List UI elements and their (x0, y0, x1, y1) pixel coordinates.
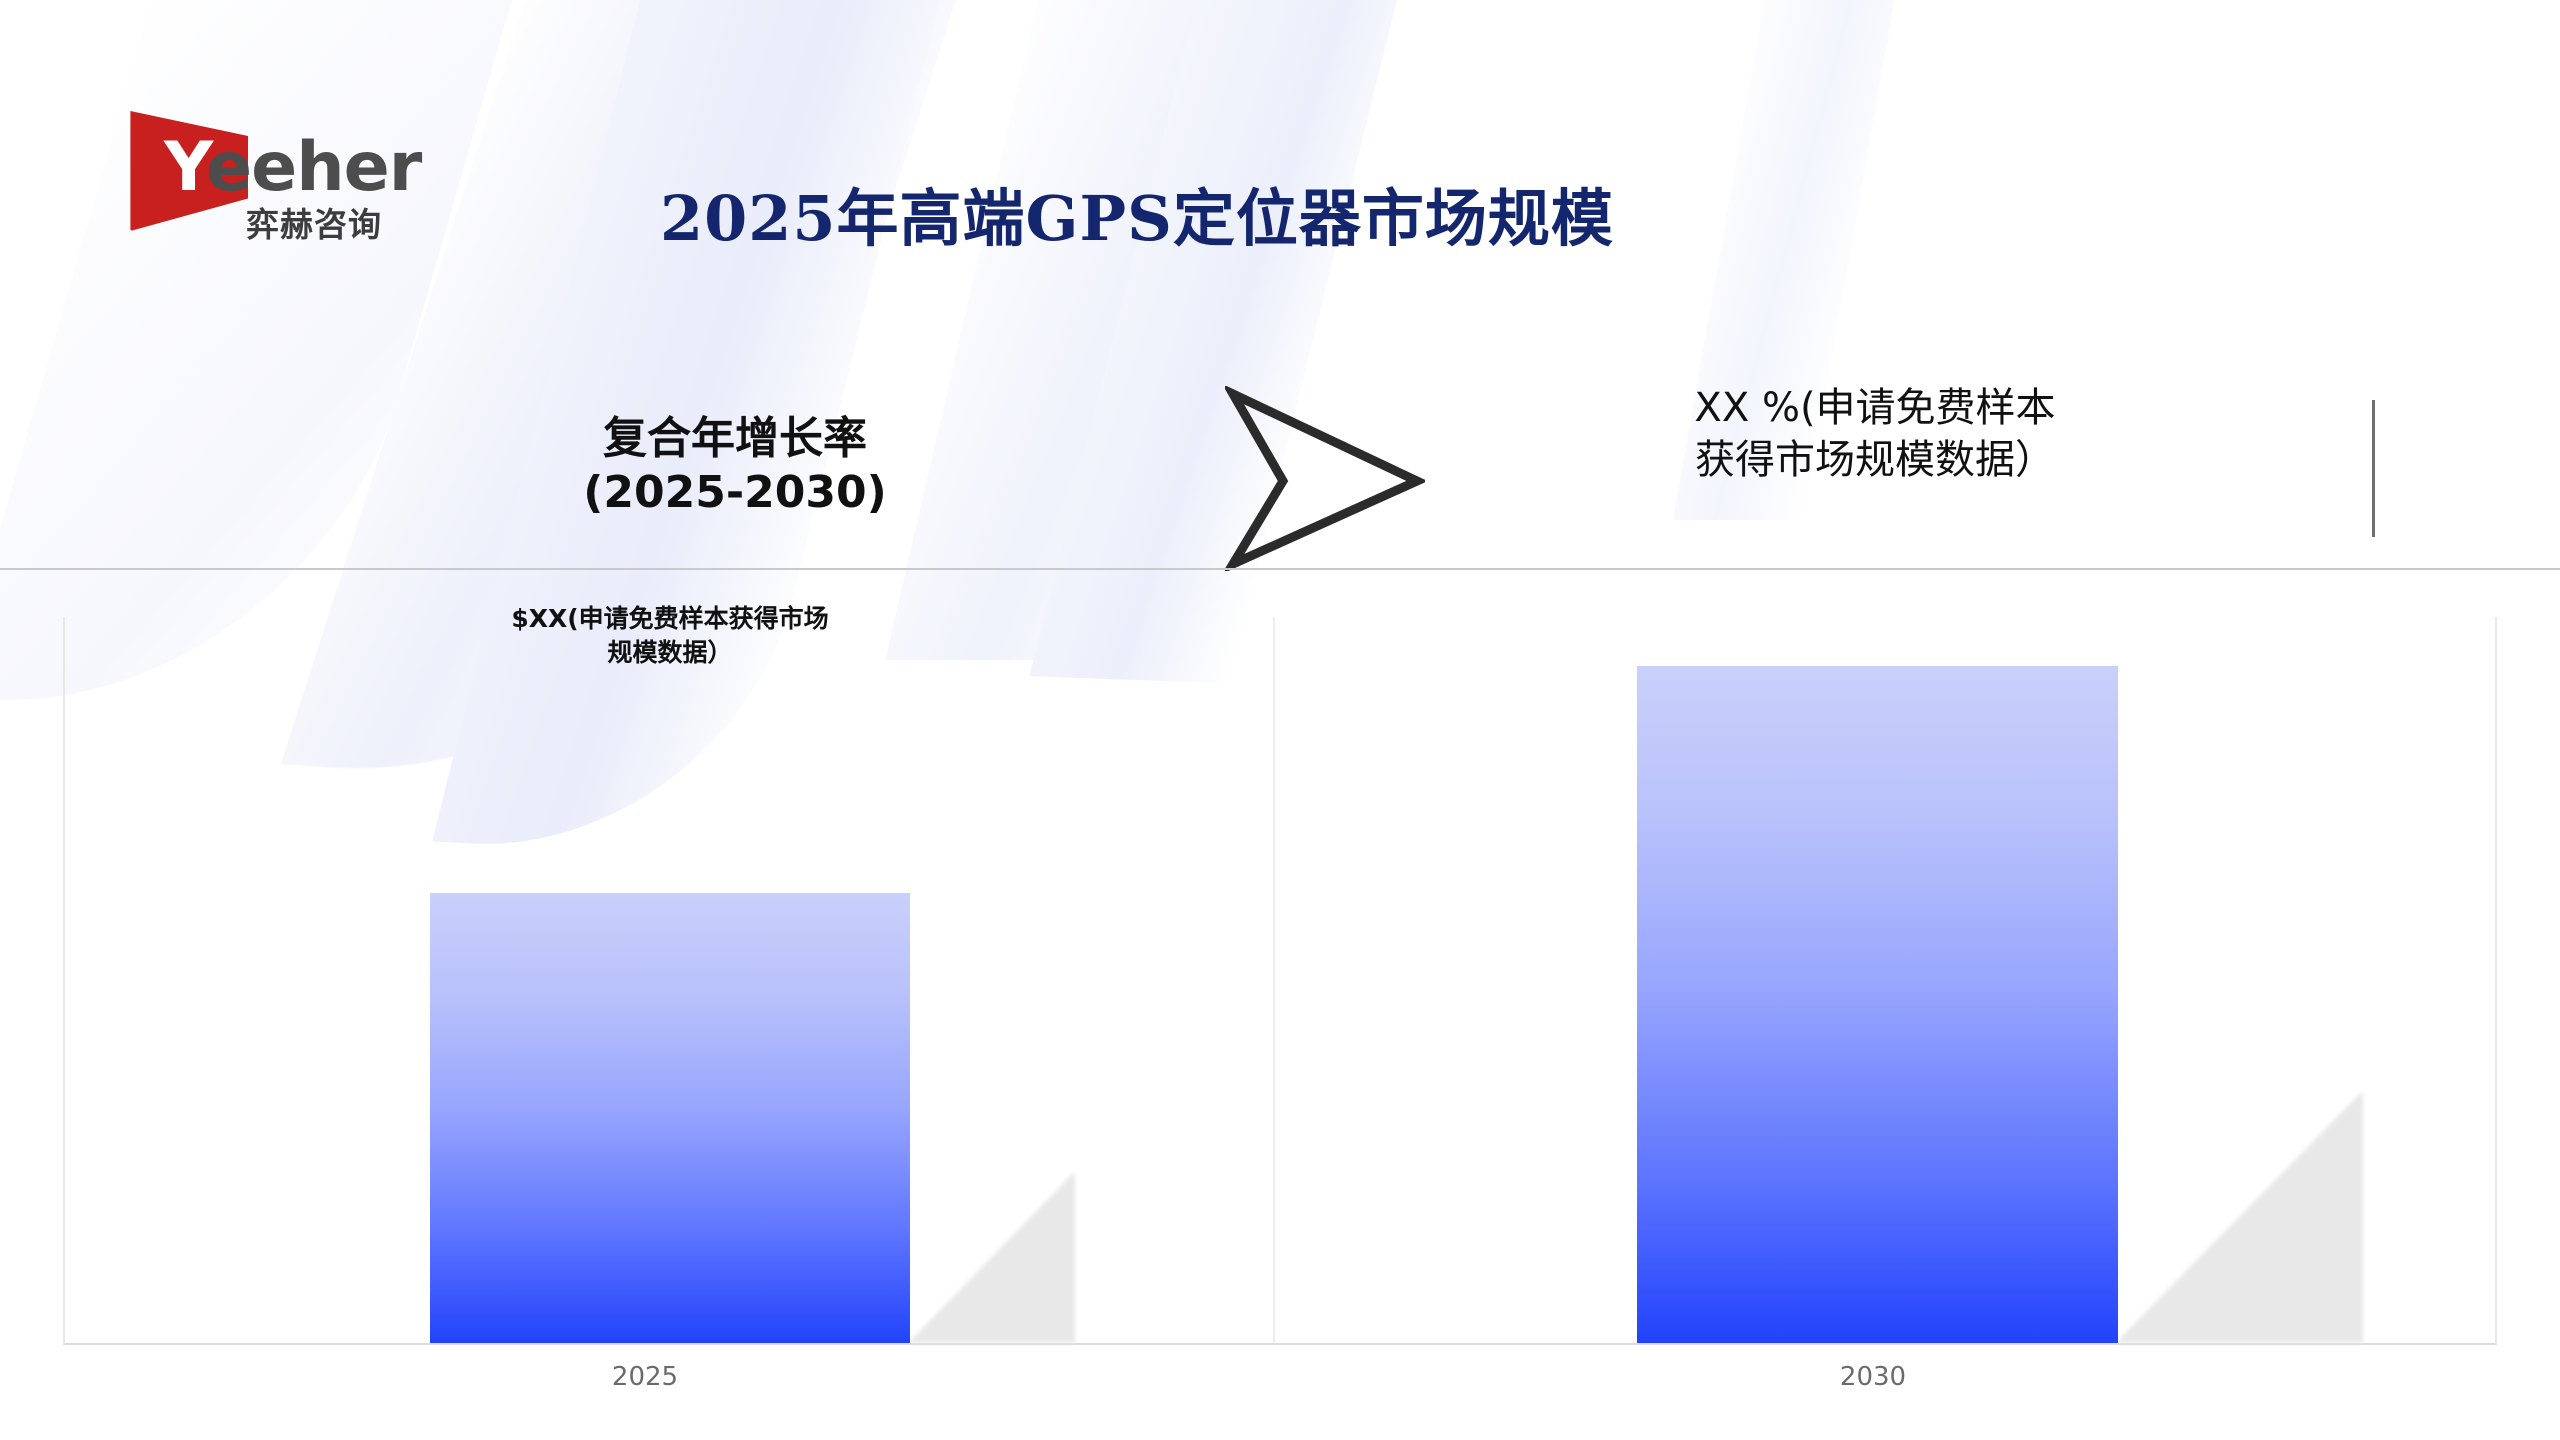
background-ribbon (0, 0, 529, 700)
background-ribbon (1030, 0, 1451, 683)
page-title: 2025年高端GPS定位器市场规模 (660, 168, 1614, 258)
logo-chinese-name: 弈赫咨询 (246, 198, 382, 246)
bar-value-label-2025-line2: 规模数据） (607, 638, 732, 667)
bar-value-label-2025-line1: $XX(申请免费样本获得市场 (511, 604, 828, 633)
logo-initial: Y (164, 128, 206, 207)
chart-category-divider (1273, 617, 1275, 1343)
bar-group-2025 (430, 893, 910, 1343)
arrow-right-outline-icon (1225, 386, 1425, 571)
bar-2025[interactable] (430, 893, 910, 1343)
x-axis-tick-2025: 2025 (565, 1362, 725, 1392)
bar-value-label-2025: $XX(申请免费样本获得市场 规模数据） (430, 602, 910, 670)
x-axis-tick-2030: 2030 (1793, 1362, 1953, 1392)
cagr-label: 复合年增长率 (2025-2030) (555, 412, 915, 519)
bar-shadow (2118, 1093, 2363, 1343)
logo-wordmark-rest: eeher (206, 128, 421, 207)
bar-value-label-2030 (1637, 539, 2118, 573)
bar-shadow (910, 1173, 1075, 1343)
cagr-value-line2: 获得市场规模数据） (1640, 434, 2110, 486)
logo-wordmark: Yeeher (164, 134, 421, 202)
bar-group-2030 (1637, 666, 2118, 1343)
header-right-divider (2372, 400, 2375, 537)
cagr-value: XX %(申请免费样本 获得市场规模数据） (1640, 382, 2110, 486)
brand-logo: Yeeher 弈赫咨询 (128, 106, 468, 231)
cagr-label-line2: (2025-2030) (555, 466, 915, 520)
cagr-label-line1: 复合年增长率 (555, 412, 915, 466)
header-rule (0, 568, 2560, 570)
bar-chart: $XX(申请免费样本获得市场 规模数据） (63, 617, 2497, 1345)
cagr-value-line1: XX %(申请免费样本 (1640, 382, 2110, 434)
bar-2030[interactable] (1637, 666, 2118, 1343)
